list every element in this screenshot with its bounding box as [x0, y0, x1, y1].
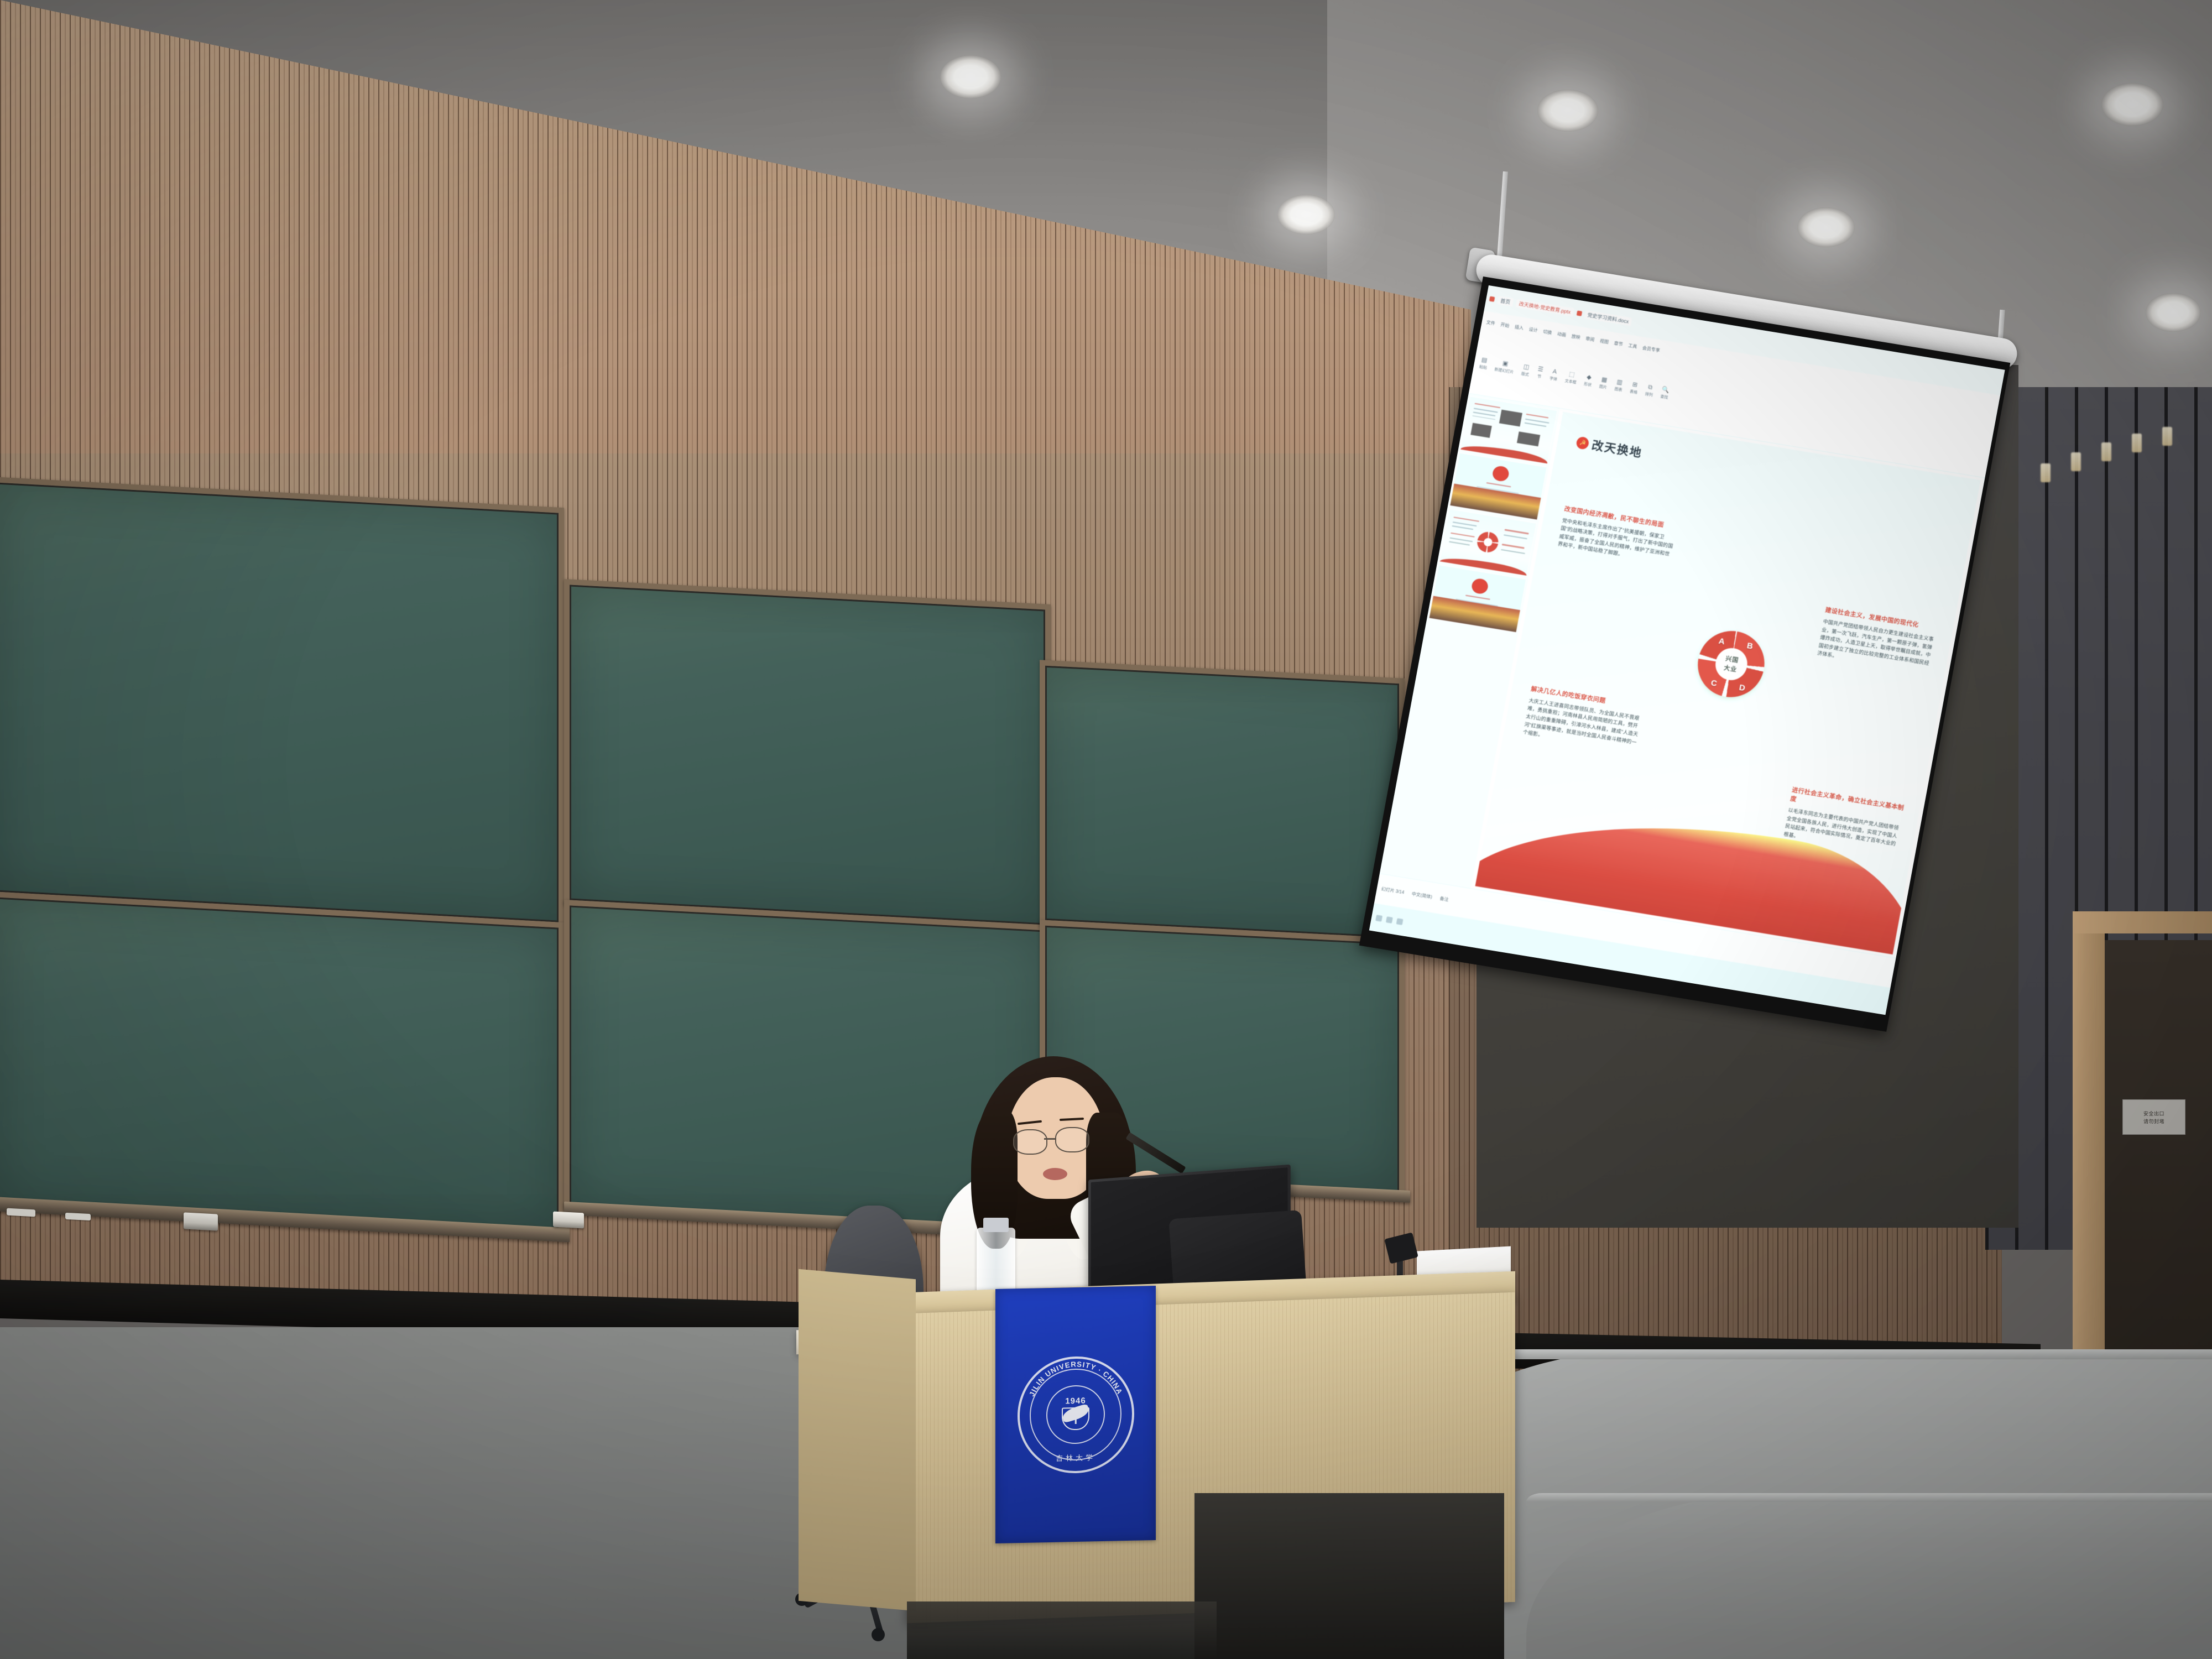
new-slide-icon: ▣ — [1502, 361, 1509, 367]
exit-sign: 安全出口 请勿封堵 — [2122, 1099, 2185, 1135]
slide-left-block-2: 解决几亿人的吃饭穿衣问题 大庆工人王进喜同志带领队员、为全国人民不畏艰难，勇挑重… — [1522, 685, 1645, 755]
find-icon: 🔍 — [1661, 387, 1670, 394]
ceiling-downlight — [1797, 207, 1855, 247]
notes-toggle[interactable]: 备注 — [1439, 896, 1449, 903]
ribbon-label: 图表 — [1614, 387, 1623, 393]
taskbar-app-icon[interactable] — [1375, 915, 1383, 922]
fin-wall-accent-light — [2071, 452, 2081, 471]
ribbon-paste-button[interactable]: ▤ 粘贴 — [1479, 357, 1489, 371]
microphone-head — [1384, 1232, 1418, 1264]
lectern-lower-panel — [907, 1601, 1217, 1659]
slide-counter: 幻灯片 3/14 — [1381, 886, 1405, 896]
shape-icon: ◆ — [1586, 374, 1592, 381]
doc-tab-0[interactable]: 首页 — [1497, 296, 1514, 306]
ceiling-downlight — [2101, 83, 2163, 126]
ribbon-picture-button[interactable]: ▦ 图片 — [1599, 377, 1609, 390]
ccp-emblem-icon: ☭ — [1575, 436, 1590, 450]
textbox-icon: ⬚ — [1568, 372, 1575, 378]
menu-item-8[interactable]: 视图 — [1599, 338, 1609, 345]
exit-sign-line1: 安全出口 — [2143, 1110, 2164, 1117]
office-chair-caster — [872, 1628, 885, 1641]
menu-item-4[interactable]: 切换 — [1542, 328, 1552, 336]
lectern-plaque: JILIN UNIVERSITY · CHINA 1946 吉林大学 — [995, 1286, 1156, 1543]
current-slide[interactable]: ☭ 改天换地 改变国内经济凋敝，民不聊生的局面 党中央和毛泽东主席作出了“抗美援… — [1474, 411, 1981, 955]
slide-thumbnail[interactable] — [1460, 396, 1558, 464]
taskbar-app-icon[interactable] — [1386, 916, 1393, 924]
language-indicator[interactable]: 中文(简体) — [1411, 891, 1433, 900]
wps-doc-icon — [1576, 311, 1582, 316]
lecture-hall-photo: 首页 改天换地-党史教育.pptx 党史学习资料.docx 文件 开始 插入 设… — [0, 0, 2212, 1659]
ribbon-layout-button[interactable]: ◫ 版式 — [1521, 364, 1531, 378]
ribbon-new-slide-button[interactable]: ▣ 新建幻灯片 — [1494, 359, 1516, 375]
menu-item-10[interactable]: 工具 — [1627, 342, 1637, 349]
ribbon-font-button[interactable]: A 字体 — [1549, 368, 1559, 382]
menu-item-0[interactable]: 文件 — [1486, 319, 1496, 326]
chalkboard-left-lower — [0, 891, 564, 1238]
chart-icon: ▥ — [1616, 379, 1623, 386]
chalkboard-middle-upper — [564, 579, 1051, 931]
door-frame-top — [2073, 911, 2212, 933]
ribbon-label: 新建幻灯片 — [1494, 367, 1514, 375]
presenter-mouth — [1043, 1168, 1067, 1180]
exit-sign-line2: 请勿封堵 — [2143, 1118, 2164, 1125]
thumbnail-preview — [1450, 453, 1546, 520]
board-eraser[interactable] — [184, 1212, 218, 1230]
chalkboard-surface — [570, 585, 1045, 925]
chalkboard-right-upper — [1040, 660, 1405, 943]
section-icon: ☰ — [1537, 367, 1544, 373]
ceiling-downlight — [2146, 293, 2201, 332]
chalkboard-surface — [0, 482, 559, 922]
eyeglasses-right-lens — [1055, 1127, 1089, 1152]
chalk-stick[interactable] — [7, 1208, 35, 1217]
eyeglasses-left-lens — [1013, 1129, 1047, 1155]
menu-item-3[interactable]: 设计 — [1528, 326, 1538, 333]
slide-editing-stage: ☭ 改天换地 改变国内经济凋敝，民不聊生的局面 党中央和毛泽东主席作出了“抗美援… — [1471, 409, 1985, 958]
slide-right-block-1: 建设社会主义，发展中国的现代化 中国共产党团结带领人民自力更生建设社会主义事业，… — [1817, 606, 1939, 676]
menu-item-6[interactable]: 放映 — [1571, 333, 1581, 340]
taskbar-app-icon[interactable] — [1396, 918, 1404, 925]
ribbon-table-button[interactable]: ⊞ 表格 — [1629, 382, 1639, 395]
slide-title-group: ☭ 改天换地 — [1575, 434, 1644, 461]
ribbon-label: 节 — [1537, 374, 1542, 380]
jilin-university-crest: JILIN UNIVERSITY · CHINA 1946 吉林大学 — [1018, 1355, 1134, 1474]
board-eraser[interactable] — [553, 1212, 584, 1229]
menu-item-2[interactable]: 插入 — [1514, 324, 1524, 331]
layout-icon: ◫ — [1523, 364, 1530, 371]
ceiling-downlight — [940, 55, 1001, 98]
menu-item-11[interactable]: 会员专享 — [1642, 345, 1661, 353]
ribbon-label: 字体 — [1549, 375, 1558, 382]
ribbon-label: 形状 — [1583, 381, 1592, 388]
stage-step-edge — [1526, 1493, 2212, 1502]
fin-wall-accent-light — [2162, 427, 2172, 446]
ribbon-label: 版式 — [1521, 371, 1530, 378]
ceiling-downlight — [1537, 90, 1598, 132]
ribbon-label: 表格 — [1629, 389, 1638, 395]
ribbon-label: 图片 — [1599, 384, 1608, 390]
ribbon-section-button[interactable]: ☰ 节 — [1536, 367, 1544, 380]
slide-title: 改天换地 — [1590, 436, 1644, 461]
menu-item-9[interactable]: 章节 — [1614, 340, 1624, 347]
thumbnail-preview — [1460, 397, 1557, 463]
thumbnail-preview — [1430, 566, 1526, 633]
ribbon-label: 粘贴 — [1479, 364, 1488, 371]
slide-thumbnail[interactable] — [1439, 509, 1537, 577]
lectern-left-side — [799, 1269, 916, 1611]
ribbon-label: 文本框 — [1564, 378, 1577, 385]
ribbon-label: 查找 — [1660, 394, 1668, 400]
water-bottle-cap[interactable] — [983, 1218, 1009, 1232]
lectern-base — [1194, 1493, 1504, 1659]
paste-icon: ▤ — [1481, 357, 1488, 364]
slide-thumbnail[interactable] — [1449, 452, 1547, 520]
wps-logo-icon — [1489, 296, 1495, 302]
arrange-icon: ⧉ — [1647, 384, 1653, 391]
slide-left-block-1: 改变国内经济凋敝，民不聊生的局面 党中央和毛泽东主席作出了“抗美援朝，保家卫国”… — [1557, 505, 1678, 566]
menu-item-5[interactable]: 动画 — [1557, 331, 1567, 338]
ribbon-arrange-button[interactable]: ⧉ 排列 — [1645, 384, 1655, 398]
doc-tab-2[interactable]: 党史学习资料.docx — [1584, 310, 1632, 326]
ceiling-downlight — [1277, 195, 1335, 234]
font-icon: A — [1552, 369, 1557, 375]
ribbon-find-button[interactable]: 🔍 查找 — [1660, 387, 1670, 400]
chalkboard-left-upper — [0, 477, 564, 928]
doc-tab-1[interactable]: 改天换地-党史教育.pptx — [1516, 299, 1574, 317]
chalkboard-surface — [1045, 666, 1399, 938]
ribbon-textbox-button[interactable]: ⬚ 文本框 — [1564, 371, 1578, 385]
wps-workspace: ☭ 改天换地 改变国内经济凋敝，民不聊生的局面 党中央和毛泽东主席作出了“抗美援… — [1380, 394, 1985, 958]
donut-center-line2: 大业 — [1723, 663, 1738, 674]
ribbon-label: 排列 — [1645, 392, 1653, 398]
fin-wall-accent-light — [2101, 442, 2111, 461]
fin-wall-accent-light — [2041, 463, 2051, 482]
fin-wall-accent-light — [2132, 434, 2142, 452]
ribbon-shape-button[interactable]: ◆ 形状 — [1583, 374, 1593, 388]
menu-item-1[interactable]: 开始 — [1500, 321, 1510, 328]
slide-thumbnail[interactable] — [1428, 565, 1526, 633]
menu-item-7[interactable]: 审阅 — [1585, 336, 1595, 343]
chalkboard-surface — [0, 897, 559, 1232]
table-icon: ⊞ — [1632, 382, 1638, 389]
picture-icon: ▦ — [1601, 377, 1608, 383]
thumbnail-preview — [1439, 509, 1536, 576]
ribbon-chart-button[interactable]: ▥ 图表 — [1614, 379, 1624, 393]
smartart-donut-diagram: A B C D 兴国 大业 — [1693, 626, 1770, 702]
chalk-stick[interactable] — [65, 1213, 91, 1220]
eyeglasses-bridge — [1044, 1138, 1056, 1140]
